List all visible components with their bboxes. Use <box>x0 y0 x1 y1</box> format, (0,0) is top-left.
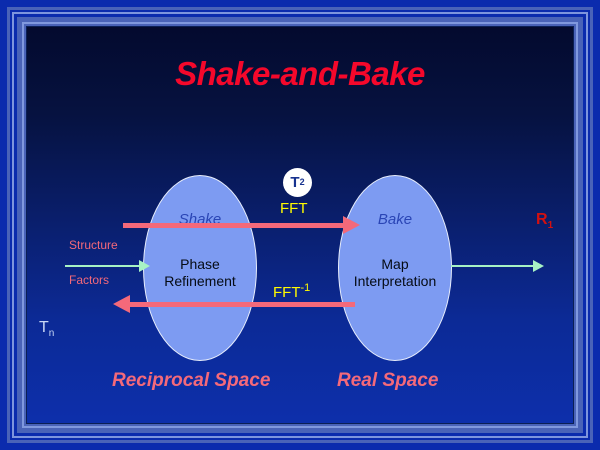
node-bake[interactable]: Bake Map Interpretation <box>338 175 452 361</box>
node-shake-body-line2: Refinement <box>135 273 265 290</box>
cycle-counter-letter: T <box>290 175 299 190</box>
input-label-line2: Factors <box>69 273 109 287</box>
label-residual-subscript: 1 <box>548 220 554 231</box>
slide-title: Shake-and-Bake <box>27 55 573 93</box>
node-shake-body: Phase Refinement <box>135 256 265 290</box>
label-residual-letter: R <box>536 211 548 228</box>
node-bake-body: Map Interpretation <box>330 256 460 290</box>
arrow-inverse-shaft <box>130 302 355 307</box>
slide-canvas: Shake-and-Bake Shake Phase Refinement Ba… <box>0 0 600 450</box>
node-bake-body-line2: Interpretation <box>330 273 460 290</box>
diagram-stage: Shake-and-Bake Shake Phase Refinement Ba… <box>27 27 573 423</box>
label-residual: R1 <box>536 211 553 231</box>
caption-real-space: Real Space <box>337 370 438 392</box>
node-bake-body-line1: Map <box>330 256 460 273</box>
node-shake[interactable]: Shake Phase Refinement <box>143 175 257 361</box>
fft-inverse-label: FFT-1 <box>273 282 310 301</box>
node-shake-body-line1: Phase <box>135 256 265 273</box>
arrow-forward-head-icon <box>343 216 360 234</box>
arrow-output-shaft <box>451 265 537 267</box>
fft-inverse-text: FFT <box>273 284 301 301</box>
fft-forward-label: FFT <box>280 200 308 217</box>
fft-inverse-exponent: -1 <box>301 282 311 294</box>
label-iteration-letter: T <box>39 319 49 336</box>
caption-reciprocal-space: Reciprocal Space <box>112 370 270 392</box>
label-iteration-subscript: n <box>49 328 55 339</box>
cycle-counter-badge: T2 <box>283 168 312 197</box>
cycle-counter-subscript: 2 <box>300 178 305 187</box>
arrow-input-shaft <box>65 265 141 267</box>
arrow-output-head-icon <box>533 260 544 272</box>
arrow-input-head-icon <box>139 260 150 272</box>
label-iteration-count: Tn <box>39 319 54 339</box>
arrow-forward-shaft <box>123 223 349 228</box>
input-label-line1: Structure <box>69 238 118 252</box>
arrow-inverse-head-icon <box>113 295 130 313</box>
